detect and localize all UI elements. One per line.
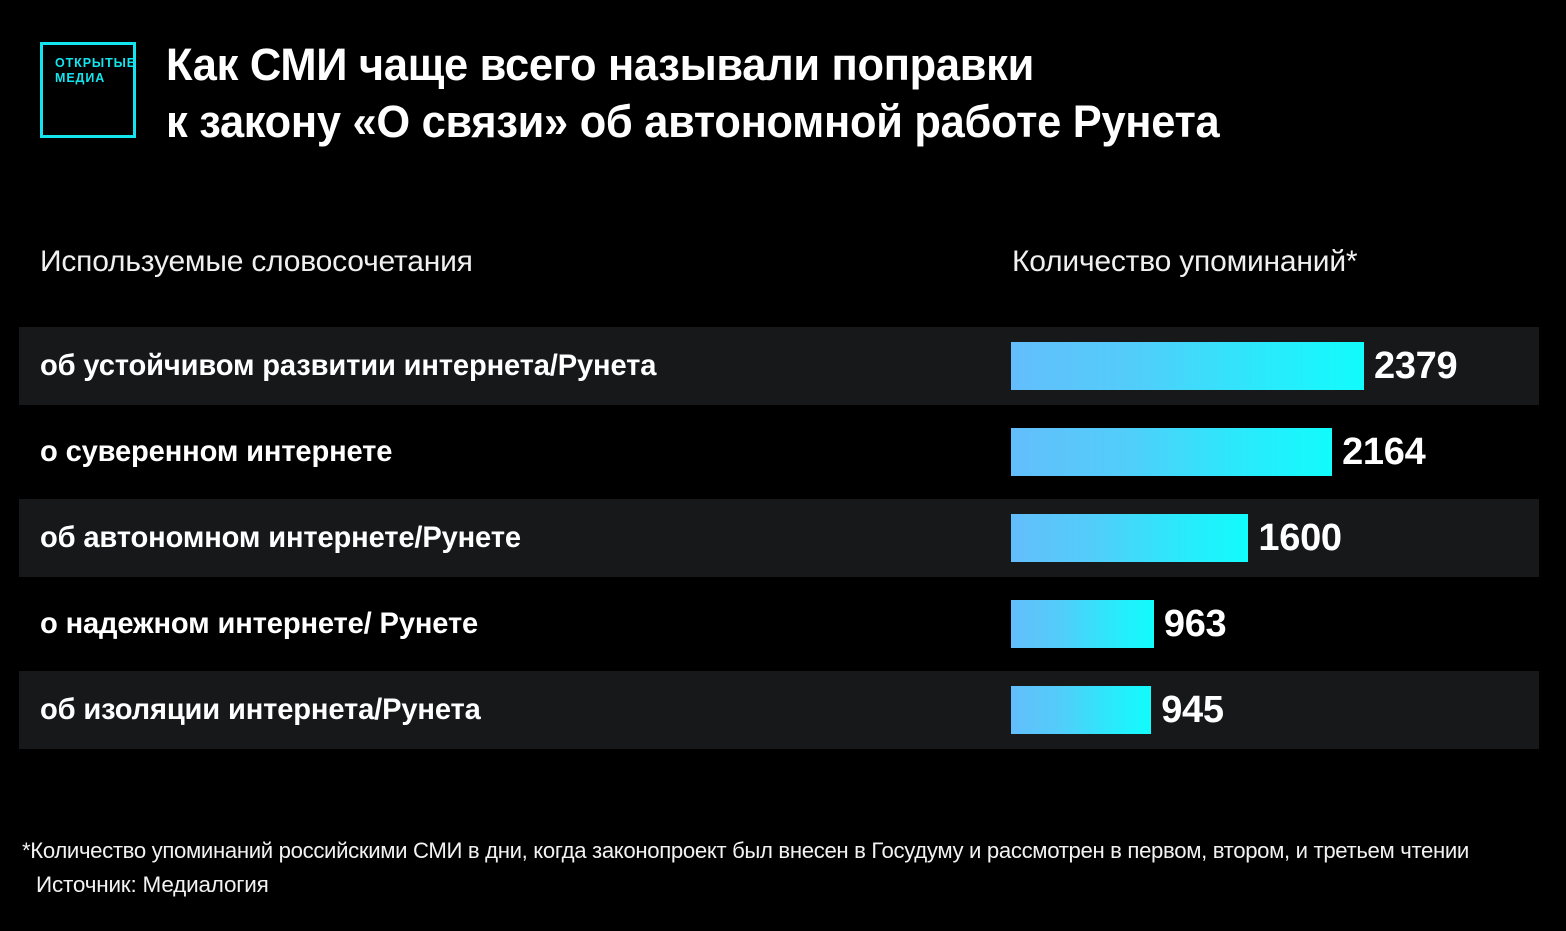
bar — [1011, 342, 1364, 390]
row-label: о суверенном интернете — [40, 413, 392, 491]
table-row: о надежном интернете/ Рунете 963 — [0, 585, 1566, 663]
row-label: об устойчивом развитии интернета/Рунета — [40, 327, 656, 405]
footnote-text: *Количество упоминаний российскими СМИ в… — [22, 836, 1529, 866]
page-title: Как СМИ чаще всего называли поправки к з… — [166, 36, 1459, 150]
row-bar-zone: 963 — [1011, 585, 1226, 663]
header: ОТКРЫТЫЕ МЕДИА Как СМИ чаще всего называ… — [0, 0, 1566, 200]
bar-value-label: 2164 — [1342, 433, 1425, 471]
bar — [1011, 428, 1332, 476]
row-bar-zone: 945 — [1011, 671, 1224, 749]
row-label: о надежном интернете/ Рунете — [40, 585, 478, 663]
table-row: об изоляции интернета/Рунета 945 — [0, 671, 1566, 749]
bar — [1011, 686, 1151, 734]
row-bar-zone: 1600 — [1011, 499, 1342, 577]
row-bar-zone: 2379 — [1011, 327, 1457, 405]
column-header-phrases: Используемые словосочетания — [40, 245, 473, 279]
table-row: об устойчивом развитии интернета/Рунета … — [0, 327, 1566, 405]
bar-value-label: 945 — [1161, 691, 1224, 729]
infographic-page: ОТКРЫТЫЕ МЕДИА Как СМИ чаще всего называ… — [0, 0, 1566, 931]
footer: *Количество упоминаний российскими СМИ в… — [22, 836, 1552, 900]
bar-chart-rows: об устойчивом развитии интернета/Рунета … — [0, 327, 1566, 757]
table-row: о суверенном интернете 2164 — [0, 413, 1566, 491]
row-bar-zone: 2164 — [1011, 413, 1425, 491]
bar-value-label: 963 — [1164, 605, 1227, 643]
brand-logo: ОТКРЫТЫЕ МЕДИА — [40, 42, 136, 138]
brand-logo-text: ОТКРЫТЫЕ МЕДИА — [55, 56, 136, 86]
bar-value-label: 2379 — [1374, 347, 1457, 385]
column-header-mentions: Количество упоминаний* — [1012, 245, 1357, 279]
bar-value-label: 1600 — [1258, 519, 1341, 557]
bar — [1011, 600, 1154, 648]
bar — [1011, 514, 1248, 562]
table-row: об автономном интернете/Рунете 1600 — [0, 499, 1566, 577]
row-label: об изоляции интернета/Рунета — [40, 671, 481, 749]
source-text: Источник: Медиалогия — [36, 870, 1552, 900]
row-label: об автономном интернете/Рунете — [40, 499, 521, 577]
